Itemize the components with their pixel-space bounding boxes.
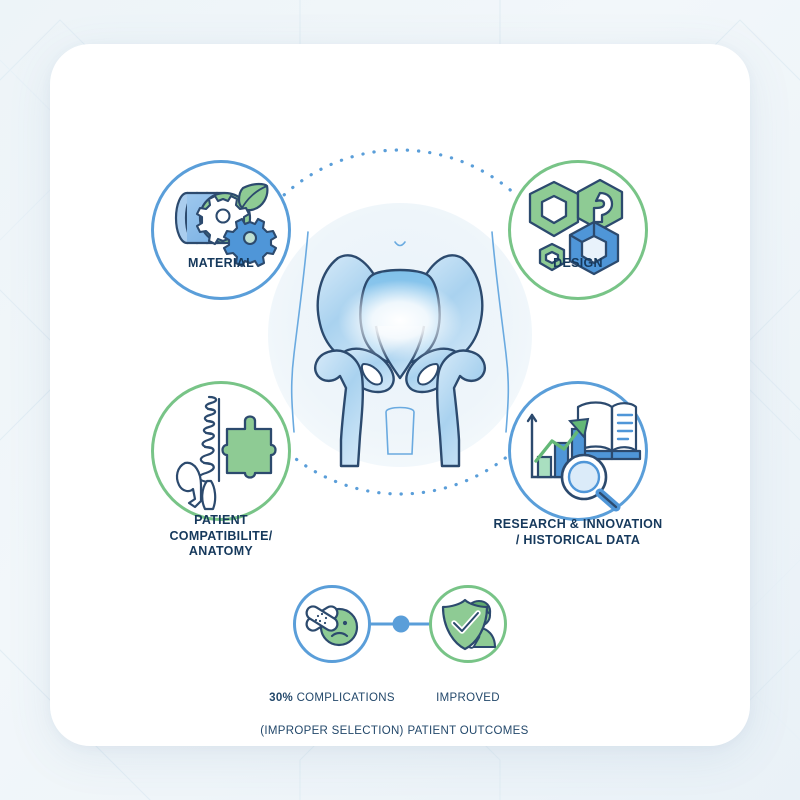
node-patient-compatibility-label: PATIENT COMPATIBILITE/ ANATOMY <box>101 513 341 560</box>
improved-line2: PATIENT OUTCOMES <box>363 723 573 740</box>
pelvis-anatomy-illustration <box>268 200 532 472</box>
node-design-label: DESIGN <box>458 256 698 272</box>
connector-dot <box>393 616 410 633</box>
node-material-label: MATERIAL <box>101 256 341 272</box>
node-improved-outcomes-label: IMPROVED PATIENT OUTCOMES <box>363 673 573 756</box>
outcome-connector <box>368 612 434 636</box>
node-research-innovation-label: RESEARCH & INNOVATION / HISTORICAL DATA <box>458 517 698 548</box>
material-discs-gear-leaf-icon <box>151 160 291 300</box>
improved-line1: IMPROVED <box>363 690 573 707</box>
complications-pct: 30% <box>269 692 293 704</box>
shield-check-patient-icon <box>429 585 507 663</box>
infographic-canvas: MATERIAL DESIGN <box>0 0 800 800</box>
design-hexagons-icon <box>508 160 648 300</box>
sad-face-bandage-icon <box>293 585 371 663</box>
chart-book-magnifier-icon <box>508 381 648 521</box>
spine-puzzle-icon <box>151 381 291 521</box>
